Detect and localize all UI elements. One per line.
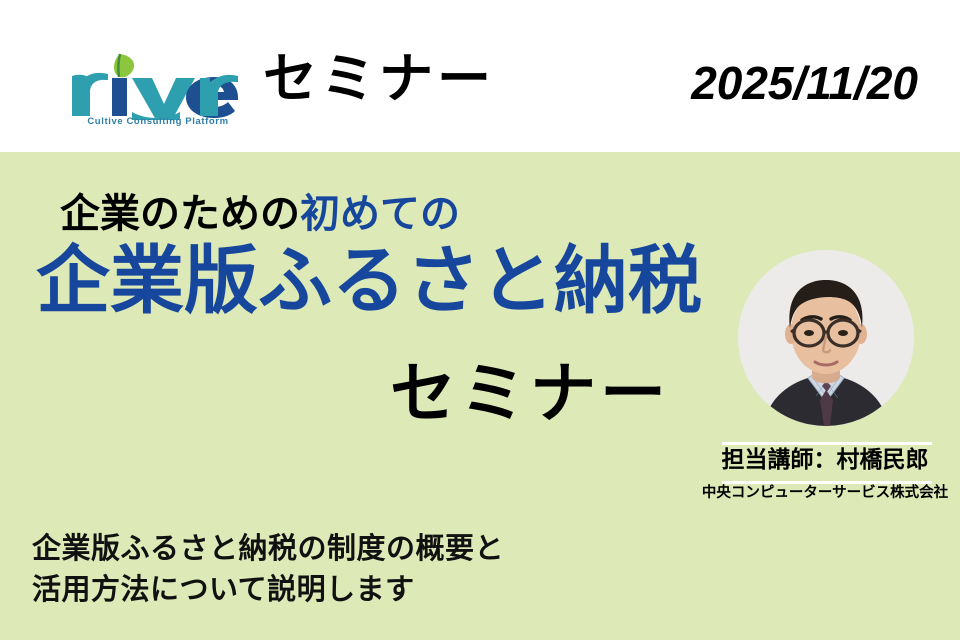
logo-tagline: Cultive Consulting Platform (78, 116, 238, 127)
title-subline-dark: 企業のための (60, 191, 300, 237)
poster-body: 企業のための初めての 企業版ふるさと納税 セミナー 企業版ふるさと納税の制度の概… (0, 152, 960, 640)
seminar-poster: Cultive Consulting Platform セミナー 2025/11… (0, 0, 960, 640)
poster-header: Cultive Consulting Platform セミナー 2025/11… (0, 0, 960, 152)
title-main: 企業版ふるさと納税 (36, 244, 702, 318)
river-final-r-icon (194, 50, 242, 120)
title-subline: 企業のための初めての (60, 194, 460, 234)
speaker-divider-top (722, 442, 932, 445)
title-seminar-word: セミナー (390, 360, 670, 426)
description-line-2: 活用方法について説明します (32, 569, 504, 610)
description-text: 企業版ふるさと納税の制度の概要と 活用方法について説明します (32, 528, 504, 610)
title-subline-blue: 初めての (300, 191, 460, 237)
header-seminar-label: セミナー (263, 52, 495, 106)
speaker-portrait (738, 250, 914, 426)
speaker-company: 中央コンピューターサービス株式会社 (700, 484, 950, 503)
speaker-name: 担当講師：村橋民郎 (700, 446, 950, 476)
river-logo: Cultive Consulting Platform (68, 50, 240, 140)
description-line-1: 企業版ふるさと納税の制度の概要と (32, 528, 504, 569)
seminar-date: 2025/11/20 (691, 60, 918, 106)
speaker-photo-icon (738, 250, 914, 426)
